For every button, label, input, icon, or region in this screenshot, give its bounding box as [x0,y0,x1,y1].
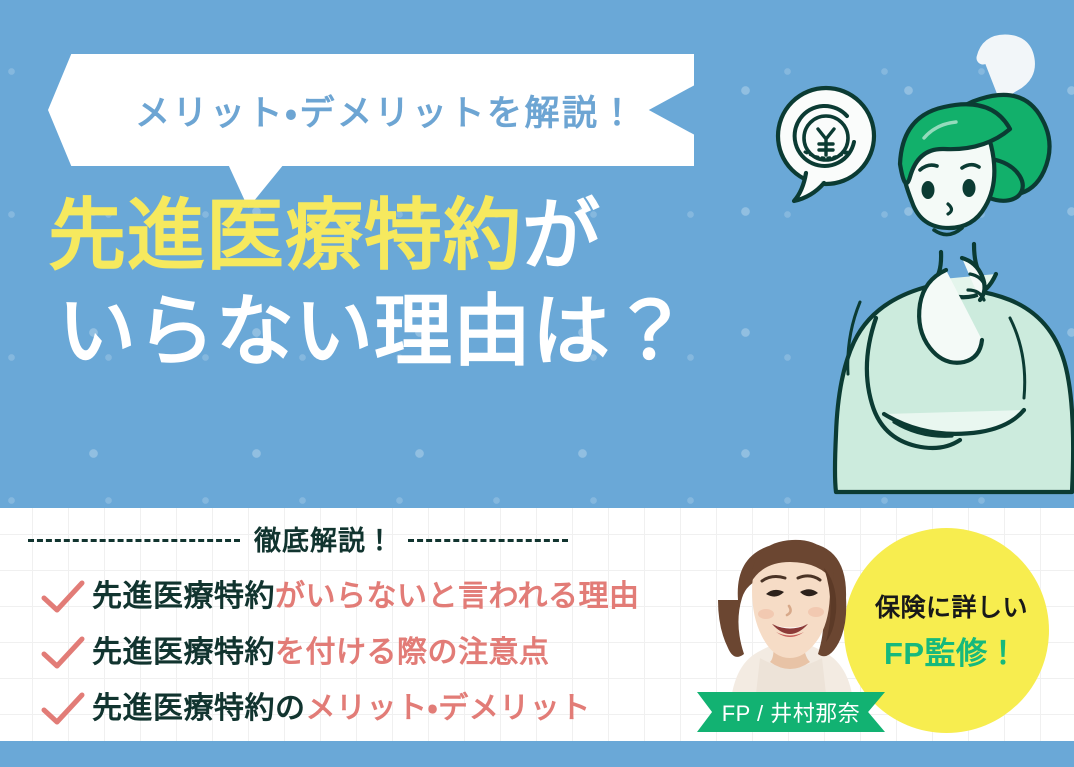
list-item-label: 先進医療特約がいらないと言われる理由 [92,582,640,612]
fp-name-ribbon: FP / 井村那奈 [697,692,885,732]
kicker-dash-right [408,539,568,542]
check-icon [40,578,92,616]
list-item: 先進医療特約を付ける際の注意点 [40,628,720,678]
kicker-label: 徹底解説！ [254,519,394,558]
kicker-dash-left [28,539,240,542]
hero-section: メリット・デメリットを解説！ 先進医療特約が いらない理由は？ [0,0,1074,508]
headline-highlight: 先進医療特約 [48,191,522,279]
check-icon [40,634,92,672]
list-item-dark-text: 先進医療特約の [92,692,306,725]
headline-line-2: いらない理由は？ [48,292,768,372]
list-item: 先進医療特約がいらないと言われる理由 [40,572,720,622]
speech-bubble-text: メリット・デメリットを解説！ [48,54,694,166]
headline-line-1: 先進医療特約が [48,196,768,276]
headline-particle: が [522,191,601,279]
thinking-woman-illustration [734,18,1074,498]
list-item-label: 先進医療特約のメリット・デメリット [92,694,591,724]
footer-bar [0,741,1074,767]
list-item-red-text: がいらないと言われる理由 [275,580,640,613]
checklist: 先進医療特約がいらないと言われる理由 先進医療特約を付ける際の注意点 先進医療特… [40,572,720,740]
kicker-row: 徹底解説！ [28,516,568,560]
yen-coin-bubble-icon [778,88,874,201]
list-item-red-text: メリット・デメリット [306,692,591,725]
fp-badge-line-2: FP監修！ [884,628,1019,673]
check-icon [40,690,92,728]
list-item-dark-text: 先進医療特約 [92,636,275,669]
page-title: 先進医療特約が いらない理由は？ [48,196,768,371]
list-item: 先進医療特約のメリット・デメリット [40,684,720,734]
fp-badge-line-1: 保険に詳しい [875,588,1028,624]
speech-bubble: メリット・デメリットを解説！ [48,54,694,166]
list-item-dark-text: 先進医療特約 [92,580,275,613]
list-item-label: 先進医療特約を付ける際の注意点 [92,638,550,668]
fp-name-label: FP / 井村那奈 [722,696,861,728]
banner-root: メリット・デメリットを解説！ 先進医療特約が いらない理由は？ [0,0,1074,767]
list-item-red-text: を付ける際の注意点 [275,636,550,669]
avatar [700,528,880,712]
